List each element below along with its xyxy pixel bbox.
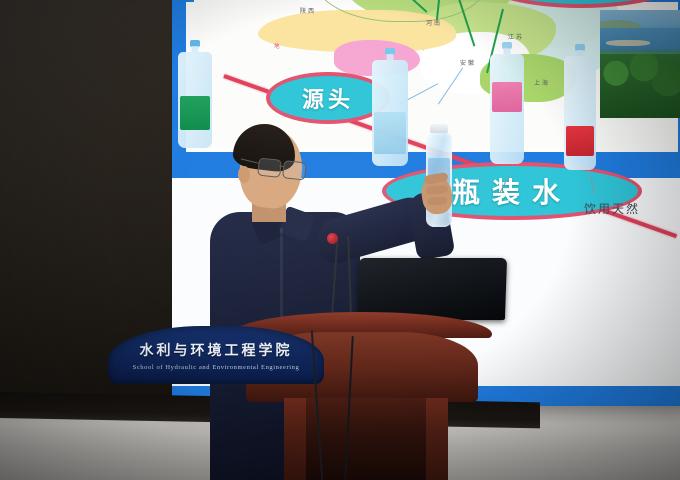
podium-name-plate: 水利与环境工程学院 School of Hydraulic and Enviro… <box>108 326 324 384</box>
speaker-ear <box>238 166 250 183</box>
slide-caption: 饮用天然 <box>584 200 640 217</box>
bottle-label <box>492 82 522 112</box>
map-label-region: 地 <box>274 42 281 50</box>
podium-base <box>284 398 448 480</box>
map-label-henan: 河南 <box>426 18 442 27</box>
map-label-anhui: 安徽 <box>460 58 476 67</box>
bottle-label <box>566 126 594 156</box>
microphone-head[interactable] <box>327 233 338 244</box>
lake-water <box>600 28 680 50</box>
map-label-shaanxi: 陕西 <box>300 6 316 15</box>
shoreline <box>606 40 650 46</box>
slide-bottle-red-label <box>564 44 596 170</box>
bottle-body <box>564 56 596 170</box>
podium-plate-chinese: 水利与环境工程学院 <box>140 340 293 360</box>
glasses-lens-left <box>257 158 282 178</box>
reservoir-photo <box>600 10 680 118</box>
map-label-shanghai: 上海 <box>534 78 550 87</box>
speaker-finger <box>427 196 447 205</box>
lecture-hall-photo: 陕西 河南 河北 山东 江苏 安徽 上海 黄海 地 水 源头 瓶装水 <box>0 0 680 480</box>
forest-canopy <box>600 54 680 118</box>
map-label-jiangsu: 江苏 <box>508 32 524 41</box>
glasses-lens-right <box>282 160 307 180</box>
laptop[interactable] <box>357 258 507 320</box>
podium-plate-english: School of Hydraulic and Environmental En… <box>133 364 300 371</box>
